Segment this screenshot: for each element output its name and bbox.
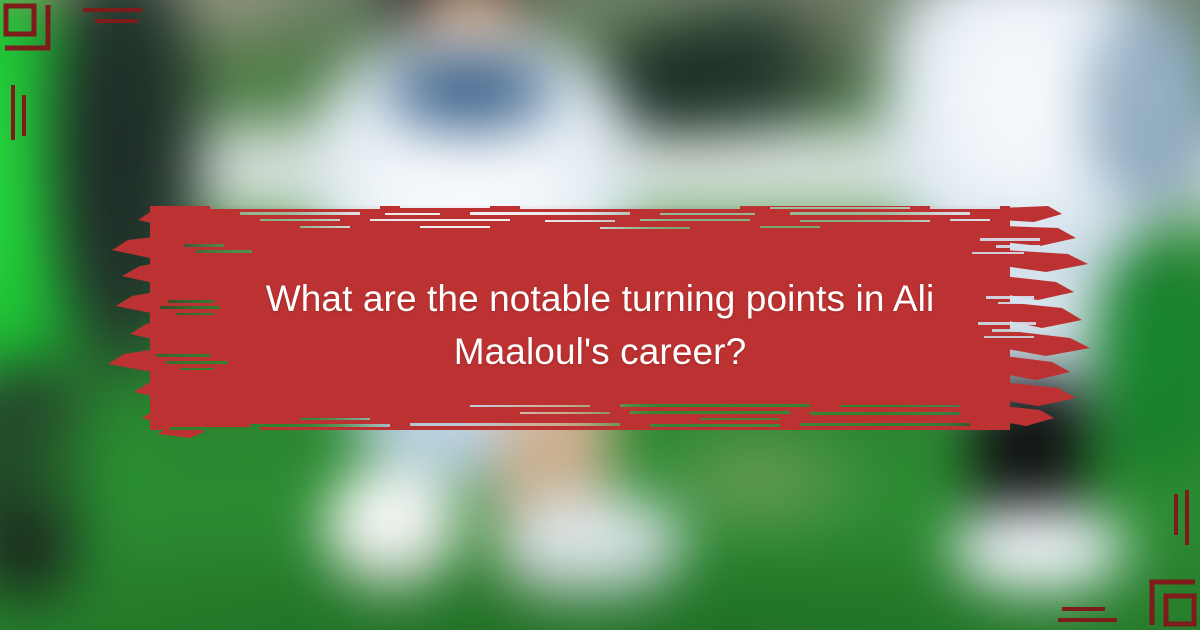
- player-center-collar: [380, 51, 560, 136]
- question-card: What are the notable turning points in A…: [0, 0, 1200, 630]
- page-title: What are the notable turning points in A…: [230, 272, 970, 378]
- grass-shadow: [0, 442, 1200, 630]
- player-left-dark-torso: [49, 0, 208, 384]
